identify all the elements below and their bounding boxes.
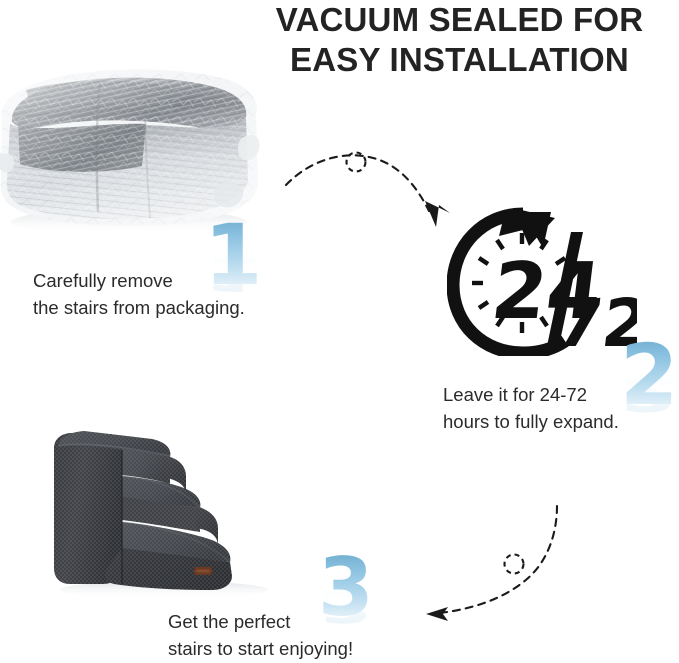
pet-stairs-photo (44, 418, 290, 601)
infographic-page: VACUUM SEALED FOR EASY INSTALLATION (0, 0, 679, 663)
page-title-line-1: VACUUM SEALED FOR (240, 0, 679, 40)
step-1-caption-line-1: Carefully remove (33, 267, 245, 294)
step-2-caption: Leave it for 24-72 hours to fully expand… (443, 381, 619, 435)
step-1-caption-line-2: the stairs from packaging. (33, 294, 245, 321)
step-1-caption: Carefully remove the stairs from packagi… (33, 267, 245, 321)
step-3-caption-line-1: Get the perfect (168, 608, 353, 635)
step-3-caption: Get the perfect stairs to start enjoying… (168, 608, 353, 662)
step-2-caption-line-2: hours to fully expand. (443, 408, 619, 435)
step-3-caption-line-2: stairs to start enjoying! (168, 635, 353, 662)
step-2-caption-line-1: Leave it for 24-72 (443, 381, 619, 408)
dashed-arrow-step2-to-step3 (424, 503, 594, 628)
page-title: VACUUM SEALED FOR EASY INSTALLATION (240, 0, 679, 80)
step-2-number: 2 (620, 333, 678, 417)
page-title-line-2: EASY INSTALLATION (240, 40, 679, 80)
clock-24-72-icon: 24 72 (447, 206, 637, 356)
dashed-arrow-step1-to-step2 (283, 143, 453, 238)
